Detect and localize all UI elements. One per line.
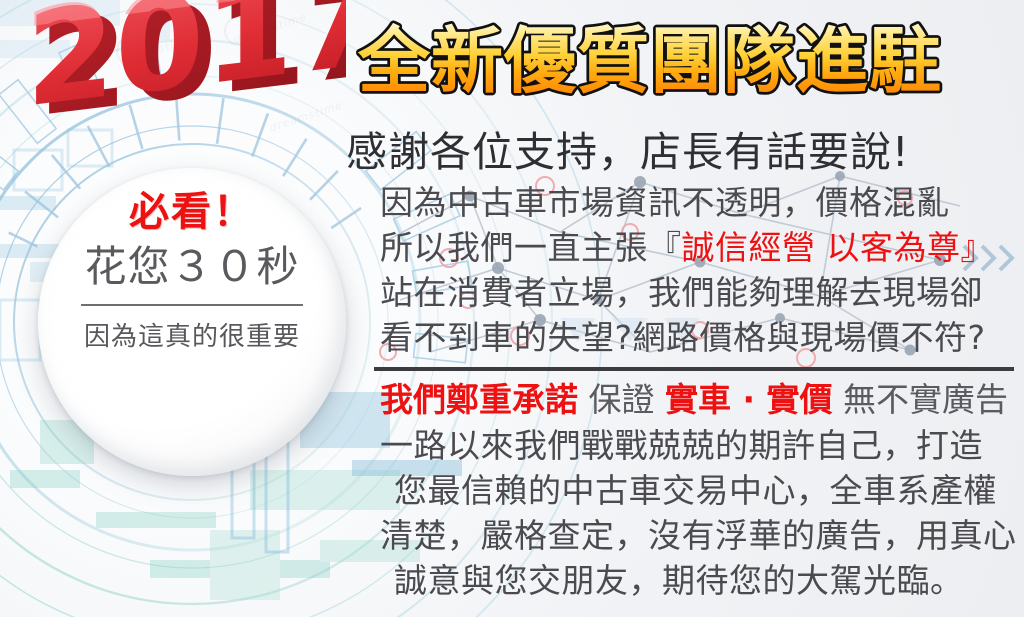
body-line-5: 一路以來我們戰戰兢兢的期許自己，打造 (380, 423, 1012, 468)
body-line-3: 站在消費者立場，我們能夠理解去現場卻 (380, 270, 1012, 315)
body-line-2-highlight: 誠信經營 以客為尊 (682, 228, 961, 267)
body-line-1: 因為中古車市場資訊不透明，價格混亂 (380, 180, 1012, 225)
body-divider (374, 367, 1014, 371)
duration-text: 花您３０秒 (84, 241, 299, 294)
body-line-4: 看不到車的失望?網路價格與現場價不符? (380, 315, 1012, 360)
promise-highlight-2: 實車 · 實價 (665, 380, 833, 419)
body-line-2: 所以我們一直主張『誠信經營 以客為尊』 (380, 225, 1012, 270)
headline-graphic: 全新優質團隊進駐 (352, 14, 1012, 106)
because-text: 因為這真的很重要 (84, 316, 300, 353)
body-line-7: 清楚，嚴格查定，沒有浮華的廣告，用真心 (380, 513, 1012, 558)
subheadline: 感謝各位支持，店長有話要說! (346, 118, 1014, 178)
promise-highlight-1: 我們鄭重承諾 (380, 380, 578, 419)
body-line-6: 您最信賴的中古車交易中心，全車系產權 (380, 468, 1012, 513)
promise-gray-2: 無不實廣告 (833, 380, 1009, 419)
body-line-8: 誠意與您交朋友，期待您的大駕光臨。 (380, 558, 1012, 603)
must-see-circle-callout: 必看！ 花您３０秒 因為這真的很重要 (38, 168, 346, 476)
body-line-2-suffix: 』 (961, 228, 995, 267)
promise-line: 我們鄭重承諾 保證 實車 · 實價 無不實廣告 (380, 377, 1012, 423)
year-2017-graphic: 2017 2017 2017 (16, 0, 346, 140)
promo-banner: dreamstime dreamstime dreamstime (0, 0, 1024, 617)
body-line-2-prefix: 所以我們一直主張『 (380, 228, 682, 267)
body-copy: 因為中古車市場資訊不透明，價格混亂 所以我們一直主張『誠信經營 以客為尊』 站在… (380, 180, 1012, 603)
promise-gray-1: 保證 (578, 380, 665, 419)
headline-text: 全新優質團隊進駐 (357, 19, 942, 103)
circle-divider (81, 304, 303, 306)
must-see-text: 必看！ (129, 190, 255, 233)
